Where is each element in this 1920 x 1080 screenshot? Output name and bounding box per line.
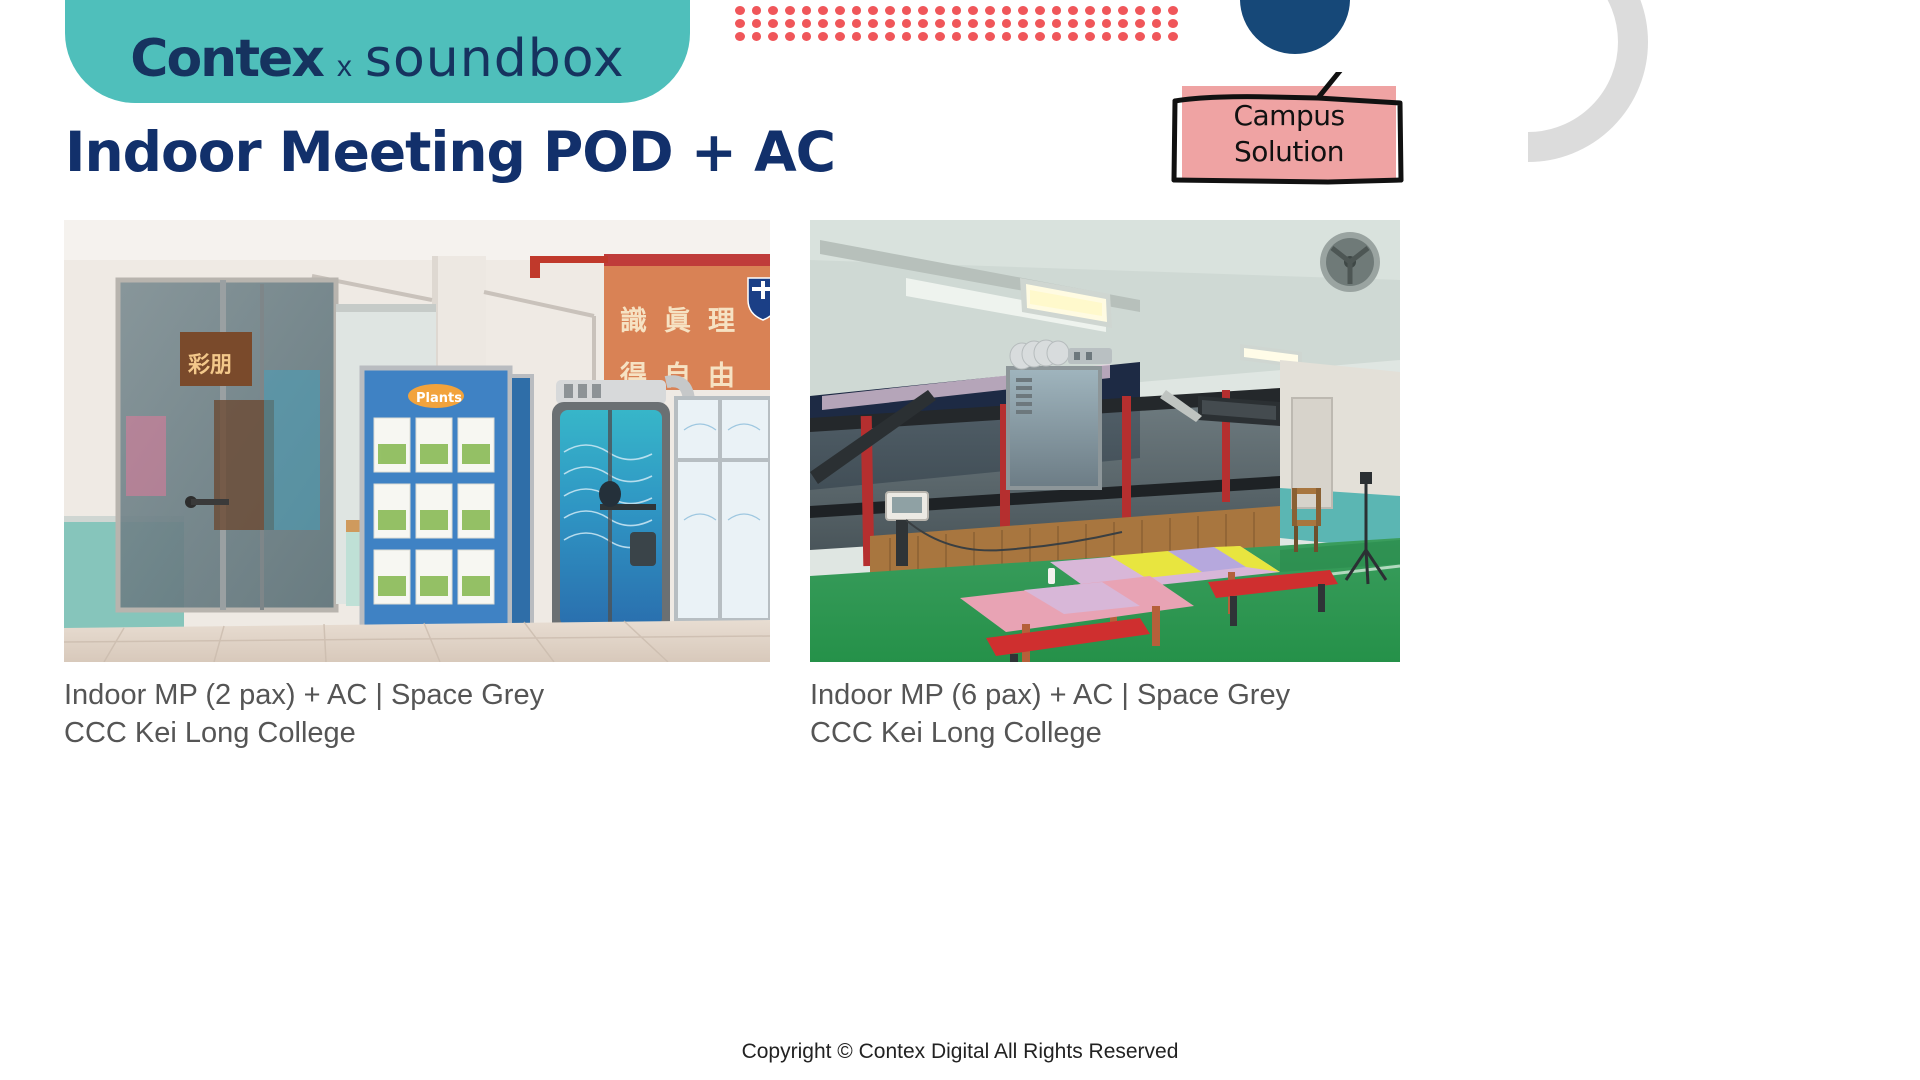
dot	[735, 32, 745, 41]
dot	[952, 19, 962, 28]
dot	[1068, 19, 1078, 28]
dot	[835, 19, 845, 28]
svg-text:理: 理	[708, 306, 735, 337]
dot	[768, 6, 778, 15]
dot	[1018, 19, 1028, 28]
dot	[868, 6, 878, 15]
dot	[1118, 32, 1128, 41]
dot	[802, 19, 812, 28]
dot	[985, 19, 995, 28]
dot	[952, 6, 962, 15]
brand-logo-text: Contex x soundbox	[130, 29, 624, 89]
dot	[1018, 32, 1028, 41]
dot	[918, 6, 928, 15]
dot	[1168, 32, 1178, 41]
navy-circle-decoration	[1240, 0, 1350, 54]
dot	[752, 19, 762, 28]
dot	[1135, 6, 1145, 15]
brand-logo-soundbox: soundbox	[365, 29, 625, 89]
dot	[918, 19, 928, 28]
dot	[852, 19, 862, 28]
dot	[935, 32, 945, 41]
dot	[1102, 6, 1112, 15]
dot	[885, 19, 895, 28]
dot	[802, 6, 812, 15]
dot	[802, 32, 812, 41]
dot	[1118, 6, 1128, 15]
caption-left-line-1: Indoor MP (2 pax) + AC | Space Grey	[64, 676, 544, 714]
brand-logo-contex: Contex	[130, 29, 323, 89]
campus-solution-badge: Campus Solution	[1168, 72, 1408, 192]
dot	[968, 6, 978, 15]
dot	[902, 19, 912, 28]
caption-right-line-1: Indoor MP (6 pax) + AC | Space Grey	[810, 676, 1290, 714]
dot	[1002, 6, 1012, 15]
indoor-mp-6pax-photo	[810, 220, 1400, 662]
dot	[1052, 32, 1062, 41]
dot	[985, 6, 995, 15]
dot	[818, 19, 828, 28]
dot	[868, 19, 878, 28]
dot-row	[735, 6, 1185, 19]
svg-text:由: 由	[708, 361, 735, 392]
dot	[1135, 19, 1145, 28]
gray-arc-decoration	[1408, 0, 1648, 162]
brand-logo-pill: Contex x soundbox	[65, 0, 690, 103]
badge-line-2: Solution	[1234, 134, 1344, 170]
dot	[1068, 6, 1078, 15]
dot	[818, 6, 828, 15]
svg-text:眞: 眞	[664, 306, 691, 337]
dot	[1018, 6, 1028, 15]
dot	[1068, 32, 1078, 41]
dot	[735, 6, 745, 15]
svg-text:彩朋: 彩朋	[187, 353, 232, 378]
dot-row	[735, 19, 1185, 32]
dot	[1052, 6, 1062, 15]
dot	[852, 32, 862, 41]
dot	[768, 32, 778, 41]
badge-line-1: Campus	[1233, 98, 1344, 134]
slide-canvas: Contex x soundbox Campus Solution Indoor…	[0, 0, 1920, 1080]
dot	[818, 32, 828, 41]
badge-text: Campus Solution	[1182, 86, 1396, 182]
dot	[868, 32, 878, 41]
dot	[785, 6, 795, 15]
page-title: Indoor Meeting POD + AC	[65, 120, 835, 184]
dot	[1152, 19, 1162, 28]
dot	[1085, 6, 1095, 15]
dot	[852, 6, 862, 15]
dot	[1085, 19, 1095, 28]
dot	[1118, 19, 1128, 28]
dot	[1152, 32, 1162, 41]
dot	[902, 32, 912, 41]
dot	[935, 19, 945, 28]
dot-row	[735, 32, 1185, 45]
caption-right-line-2: CCC Kei Long College	[810, 714, 1290, 752]
brand-logo-separator: x	[337, 50, 351, 84]
dot	[735, 19, 745, 28]
dot	[1002, 32, 1012, 41]
dot	[1168, 6, 1178, 15]
dot	[1152, 6, 1162, 15]
dot	[952, 32, 962, 41]
dot	[1085, 32, 1095, 41]
caption-left: Indoor MP (2 pax) + AC | Space Grey CCC …	[64, 676, 544, 753]
footer-copyright: Copyright © Contex Digital All Rights Re…	[0, 1040, 1920, 1064]
indoor-mp-2pax-photo: 識眞理 得自由	[64, 220, 770, 662]
dot	[768, 19, 778, 28]
dot	[752, 6, 762, 15]
dot	[1002, 19, 1012, 28]
dot	[885, 32, 895, 41]
dot	[1035, 19, 1045, 28]
dot	[1035, 6, 1045, 15]
dot	[785, 32, 795, 41]
dot	[935, 6, 945, 15]
dot	[835, 6, 845, 15]
dot	[1168, 19, 1178, 28]
dot	[1035, 32, 1045, 41]
caption-right: Indoor MP (6 pax) + AC | Space Grey CCC …	[810, 676, 1290, 753]
caption-left-line-2: CCC Kei Long College	[64, 714, 544, 752]
dot	[835, 32, 845, 41]
dot	[752, 32, 762, 41]
dot	[1102, 32, 1112, 41]
dot	[968, 32, 978, 41]
dot	[885, 6, 895, 15]
dot-pattern-decoration	[735, 6, 1185, 46]
dot	[1102, 19, 1112, 28]
dot	[785, 19, 795, 28]
dot	[918, 32, 928, 41]
dot	[1052, 19, 1062, 28]
svg-text:識: 識	[620, 306, 647, 337]
dot	[985, 32, 995, 41]
dot	[968, 19, 978, 28]
dot	[1135, 32, 1145, 41]
svg-text:Plants: Plants	[416, 391, 462, 406]
dot	[902, 6, 912, 15]
